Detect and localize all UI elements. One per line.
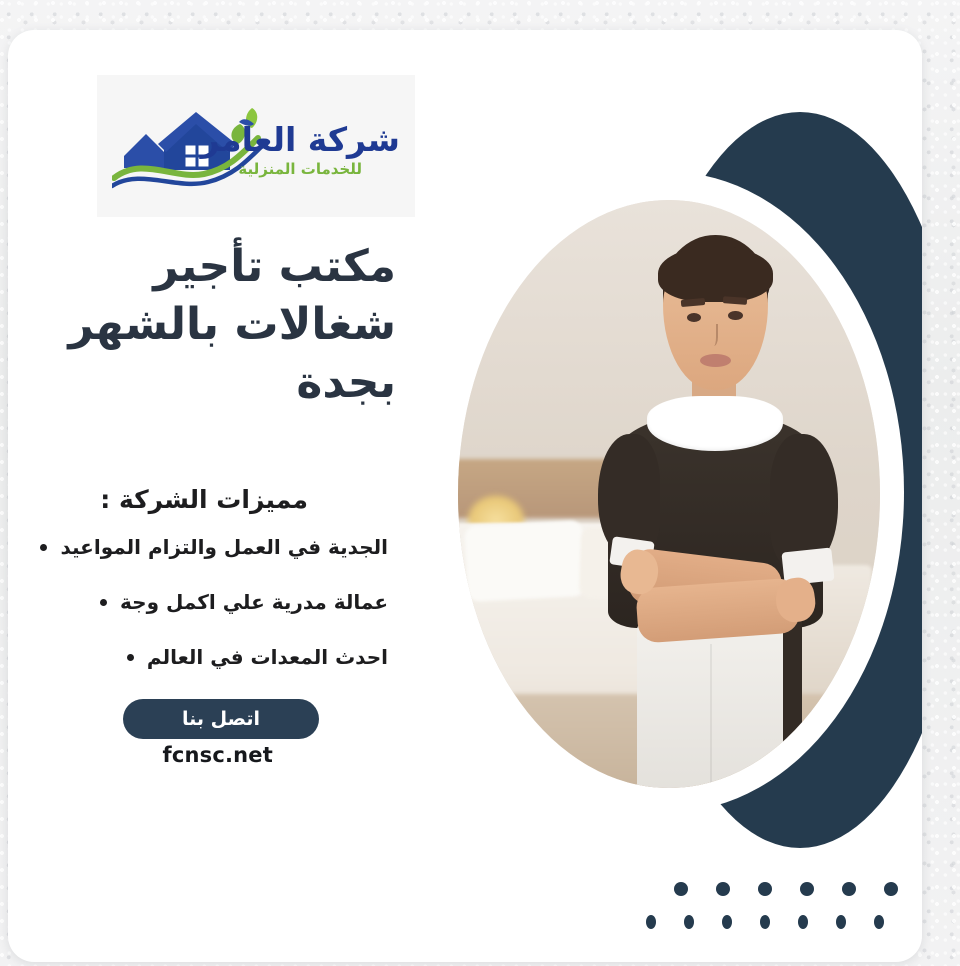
dot-icon xyxy=(758,882,772,896)
figure-nose xyxy=(708,324,718,346)
brand-logo: شركة العامر للخدمات المنزلية xyxy=(97,75,415,217)
flyer-card: شركة العامر للخدمات المنزلية مكتب تأجير … xyxy=(8,30,922,962)
dot-icon xyxy=(874,915,884,929)
artwork-column xyxy=(412,30,922,962)
dot-icon xyxy=(836,915,846,929)
figure-hairline xyxy=(658,246,773,301)
figure-dress-side xyxy=(783,617,801,772)
maid-figure xyxy=(585,235,847,788)
logo-subtitle: للخدمات المنزلية xyxy=(238,160,362,178)
photo-bg-pillow xyxy=(465,520,587,603)
feature-label: الجدية في العمل والتزام المواعيد xyxy=(60,535,388,559)
dot-grid-decoration xyxy=(660,882,898,938)
contact-us-button[interactable]: اتصل بنا xyxy=(123,699,319,739)
features-list: الجدية في العمل والتزام المواعيد عمالة م… xyxy=(18,535,388,700)
housemaid-photo xyxy=(458,200,880,788)
features-heading: مميزات الشركة : xyxy=(100,485,308,514)
headline-line-2: شغالات بالشهر xyxy=(36,296,396,354)
dot-icon xyxy=(722,915,732,929)
dot-icon xyxy=(842,882,856,896)
headline-line-3: بجدة xyxy=(36,354,396,412)
bullet-icon xyxy=(100,599,107,606)
dot-icon xyxy=(760,915,770,929)
page-title: مكتب تأجير شغالات بالشهر بجدة xyxy=(36,238,396,412)
figure-apron-seam xyxy=(710,644,712,788)
dot-icon xyxy=(884,882,898,896)
list-item: الجدية في العمل والتزام المواعيد xyxy=(18,535,388,559)
dot-icon xyxy=(800,882,814,896)
dot-row xyxy=(646,915,884,929)
bullet-icon xyxy=(127,654,134,661)
logo-wordmark: شركة العامر xyxy=(201,120,400,159)
bullet-icon xyxy=(40,544,47,551)
figure-eye xyxy=(687,313,701,322)
content-column: شركة العامر للخدمات المنزلية مكتب تأجير … xyxy=(8,30,428,962)
figure-collar xyxy=(647,396,783,451)
photo-ring xyxy=(448,190,890,798)
list-item: عمالة مدرية علي اكمل وجة xyxy=(18,590,388,614)
headline-line-1: مكتب تأجير xyxy=(36,238,396,296)
dot-icon xyxy=(716,882,730,896)
feature-label: عمالة مدرية علي اكمل وجة xyxy=(120,590,388,614)
dot-icon xyxy=(798,915,808,929)
dot-icon xyxy=(684,915,694,929)
feature-label: احدث المعدات في العالم xyxy=(147,645,388,669)
dot-icon xyxy=(646,915,656,929)
dot-row xyxy=(660,882,898,896)
list-item: احدث المعدات في العالم xyxy=(18,645,388,669)
website-url[interactable]: fcnsc.net xyxy=(163,743,274,767)
dot-icon xyxy=(674,882,688,896)
